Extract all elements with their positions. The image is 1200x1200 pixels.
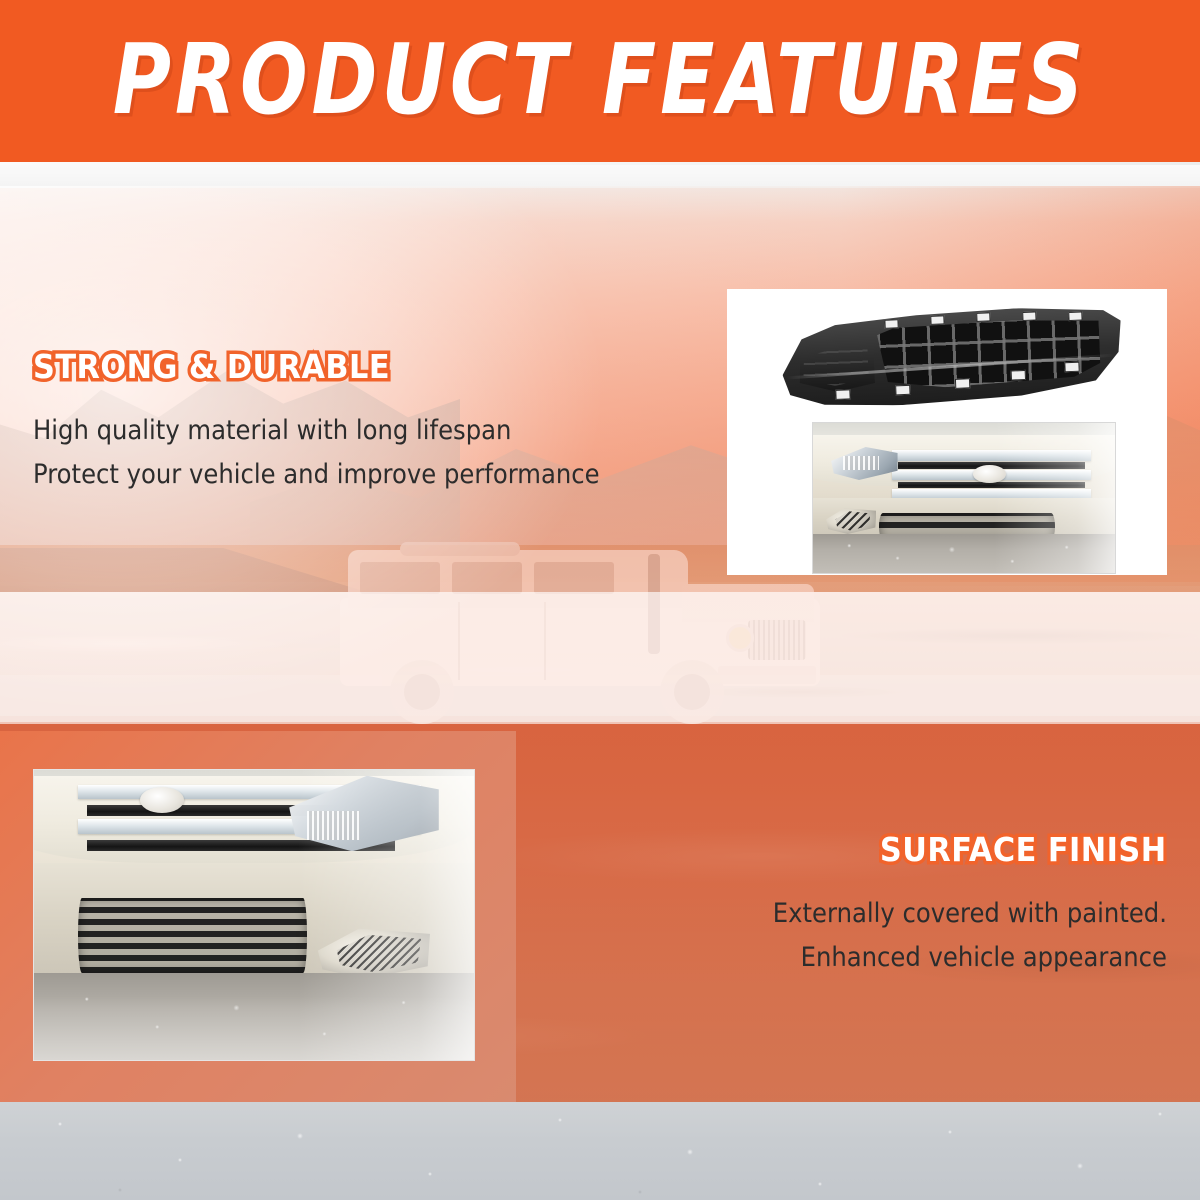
feature-title-surface-finish: SURFACE FINISH (880, 833, 1167, 866)
feature-block-surface-finish: SURFACE FINISH Externally covered with p… (729, 833, 1167, 979)
vehicle-bumper (718, 666, 816, 684)
photo-road-texture (34, 973, 474, 1060)
feature-body-line: Enhanced vehicle appearance (773, 936, 1167, 980)
car-front-photo (813, 423, 1115, 573)
feature-body-line: Protect your vehicle and improve perform… (33, 453, 600, 497)
feature-body-line: High quality material with long lifespan (33, 409, 600, 453)
vehicle-window-rear (360, 562, 440, 594)
bumper-grille-product-image (780, 304, 1124, 410)
photo-road-texture (813, 534, 1115, 573)
feature-block-strong-durable: STRONG & DURABLE High quality material w… (33, 350, 663, 496)
vehicle-window-middle (452, 562, 522, 594)
vehicle-door-seam-1 (458, 602, 460, 680)
feature-body-strong-durable: High quality material with long lifespan… (33, 409, 600, 496)
grille-clip-tab (1011, 370, 1026, 381)
headlight-lens-detail (307, 811, 360, 840)
gravel-speckles (0, 1102, 1200, 1200)
installed-lower-grille (78, 898, 307, 973)
vehicle-window-front (534, 562, 614, 594)
vehicle-grille (748, 620, 806, 660)
vehicle-wheel-front (660, 660, 724, 724)
grille-clip-tab (884, 319, 898, 329)
header-divider (0, 162, 1200, 165)
grille-clip-tab (976, 312, 990, 322)
feature-body-surface-finish: Externally covered with painted. Enhance… (773, 892, 1167, 979)
grille-clip-tab (1068, 312, 1082, 322)
installed-grille-inset-photo (812, 422, 1116, 574)
manufacturer-emblem (973, 465, 1006, 483)
grille-clip-tab (930, 315, 944, 325)
page-title: PRODUCT FEATURES (18, 0, 1182, 177)
product-image-card-top (727, 289, 1167, 575)
vehicle-door-seam-2 (544, 602, 546, 680)
grille-clip-tab (955, 378, 970, 389)
feature-title-strong-durable: STRONG & DURABLE (33, 350, 390, 383)
grille-clip-tab (835, 389, 850, 400)
feature-body-line: Externally covered with painted. (773, 892, 1167, 936)
vehicle-roof-rack (400, 542, 520, 556)
vehicle-hood (682, 584, 814, 622)
vehicle-wheel-rear (390, 660, 454, 724)
header-banner: PRODUCT FEATURES (0, 0, 1200, 162)
grille-clip-tab (1064, 362, 1079, 373)
installed-grille-closeup-photo (33, 769, 475, 1061)
product-features-infographic: PRODUCT FEATURES (0, 0, 1200, 1200)
headlight-lens-detail (843, 456, 879, 470)
vehicle-snorkel (648, 554, 660, 654)
car-front-photo (34, 770, 474, 1060)
grille-clip-tab (895, 385, 910, 396)
chrome-grille-bar (892, 450, 1091, 461)
grille-clip-tab (1022, 311, 1036, 321)
vehicle-headlamp (726, 624, 754, 652)
